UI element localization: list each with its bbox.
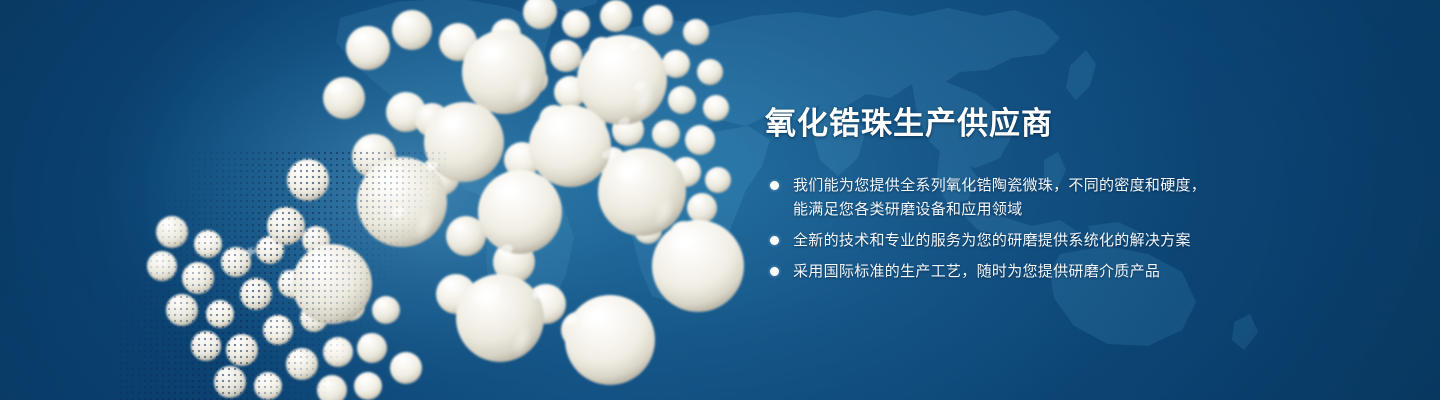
- bullet-dot-icon: [770, 267, 779, 276]
- hero-banner: 氧化锆珠生产供应商 我们能为您提供全系列氧化锆陶瓷微珠，不同的密度和硬度， 能满…: [0, 0, 1440, 400]
- page-title: 氧化锆珠生产供应商: [765, 104, 1325, 144]
- list-item-label: 我们能为您提供全系列氧化锆陶瓷微珠，不同的密度和硬度， 能满足您各类研磨设备和应…: [793, 174, 1325, 222]
- list-item: 我们能为您提供全系列氧化锆陶瓷微珠，不同的密度和硬度， 能满足您各类研磨设备和应…: [765, 174, 1325, 222]
- bullet-dot-icon: [770, 236, 779, 245]
- list-item-label: 全新的技术和专业的服务为您的研磨提供系统化的解决方案: [793, 229, 1325, 253]
- list-item: 全新的技术和专业的服务为您的研磨提供系统化的解决方案: [765, 229, 1325, 253]
- list-item: 采用国际标准的生产工艺，随时为您提供研磨介质产品: [765, 260, 1325, 284]
- feature-list: 我们能为您提供全系列氧化锆陶瓷微珠，不同的密度和硬度， 能满足您各类研磨设备和应…: [765, 174, 1325, 284]
- bullet-dot-icon: [770, 181, 779, 190]
- list-item-line-1: 我们能为您提供全系列氧化锆陶瓷微珠，不同的密度和硬度，: [793, 177, 1206, 194]
- list-item-label: 采用国际标准的生产工艺，随时为您提供研磨介质产品: [793, 260, 1325, 284]
- list-item-line-2: 能满足您各类研磨设备和应用领域: [793, 198, 1325, 222]
- banner-copy: 氧化锆珠生产供应商 我们能为您提供全系列氧化锆陶瓷微珠，不同的密度和硬度， 能满…: [765, 104, 1325, 284]
